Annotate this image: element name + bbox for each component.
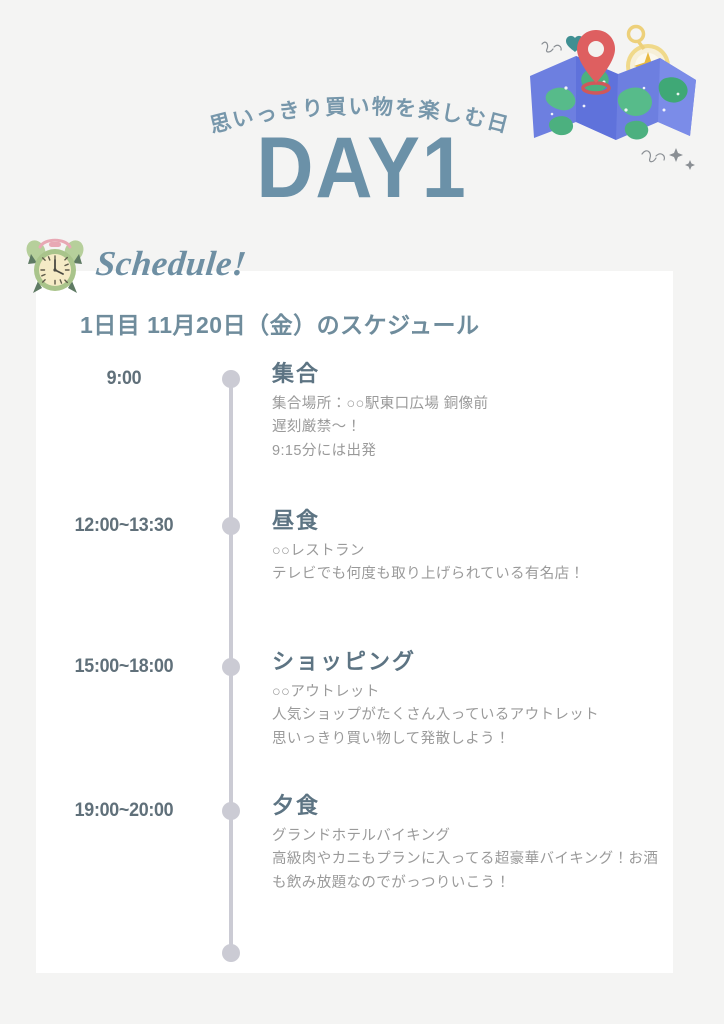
desc-line: グランドホテルバイキング: [272, 825, 662, 848]
timeline-item-time: 19:00~20:00: [41, 800, 206, 822]
desc-line: ○○アウトレット: [272, 681, 662, 704]
timeline-item-time: 12:00~13:30: [41, 515, 206, 537]
timeline-dot: [222, 658, 240, 676]
schedule-card: 1日目 11月20日（金）のスケジュール 9:00 集合 集合場所：○○駅東口広…: [36, 271, 673, 973]
desc-line: 高級肉やカニもプランに入ってる超豪華バイキング！お酒も飲み放題なのでがっつりいこ…: [272, 848, 662, 895]
timeline-dot: [222, 517, 240, 535]
alarm-clock-icon: [22, 234, 88, 300]
timeline-item-title: 夕食: [272, 792, 662, 821]
timeline-item-description: ○○アウトレット 人気ショップがたくさん入っているアウトレット 思いっきり買い物…: [272, 681, 662, 751]
timeline-item-description: グランドホテルバイキング 高級肉やカニもプランに入ってる超豪華バイキング！お酒も…: [272, 825, 662, 895]
timeline-item-description: ○○レストラン テレビでも何度も取り上げられている有名店！: [272, 540, 662, 587]
desc-line: 遅刻厳禁〜！: [272, 416, 662, 439]
folded-map: [530, 56, 696, 140]
timeline-end-dot: [222, 944, 240, 962]
timeline-item-body: 夕食 グランドホテルバイキング 高級肉やカニもプランに入ってる超豪華バイキング！…: [272, 792, 662, 895]
page-header: 思いっきり買い物を楽しむ日 DAY1: [0, 0, 724, 268]
timeline-item-body: ショッピング ○○アウトレット 人気ショップがたくさん入っているアウトレット 思…: [272, 648, 662, 751]
scribble-decoration: [542, 42, 561, 52]
desc-line: 9:15分には出発: [272, 440, 662, 463]
desc-line: 人気ショップがたくさん入っているアウトレット: [272, 704, 662, 727]
timeline-item-body: 集合 集合場所：○○駅東口広場 銅像前 遅刻厳禁〜！ 9:15分には出発: [272, 360, 662, 463]
timeline-item-title: ショッピング: [272, 648, 662, 677]
timeline-dot: [222, 370, 240, 388]
schedule-label: Schedule!: [94, 244, 249, 284]
timeline-item-title: 昼食: [272, 507, 662, 536]
timeline-item-time: 9:00: [41, 368, 206, 390]
scribble-decoration-2: [642, 151, 664, 162]
timeline-item-title: 集合: [272, 360, 662, 389]
timeline-dot: [222, 802, 240, 820]
schedule-heading: Schedule!: [22, 234, 246, 300]
desc-line: 集合場所：○○駅東口広場 銅像前: [272, 393, 662, 416]
timeline-item-time: 15:00~18:00: [41, 656, 206, 678]
page-root: 思いっきり買い物を楽しむ日 DAY1: [0, 0, 724, 1024]
map-illustration: [518, 18, 710, 178]
sparkle-icon: [669, 148, 695, 170]
desc-line: ○○レストラン: [272, 540, 662, 563]
desc-line: テレビでも何度も取り上げられている有名店！: [272, 563, 662, 586]
timeline-item-body: 昼食 ○○レストラン テレビでも何度も取り上げられている有名店！: [272, 507, 662, 587]
timeline-item-description: 集合場所：○○駅東口広場 銅像前 遅刻厳禁〜！ 9:15分には出発: [272, 393, 662, 463]
desc-line: 思いっきり買い物して発散しよう！: [272, 728, 662, 751]
date-heading: 1日目 11月20日（金）のスケジュール: [80, 306, 479, 340]
